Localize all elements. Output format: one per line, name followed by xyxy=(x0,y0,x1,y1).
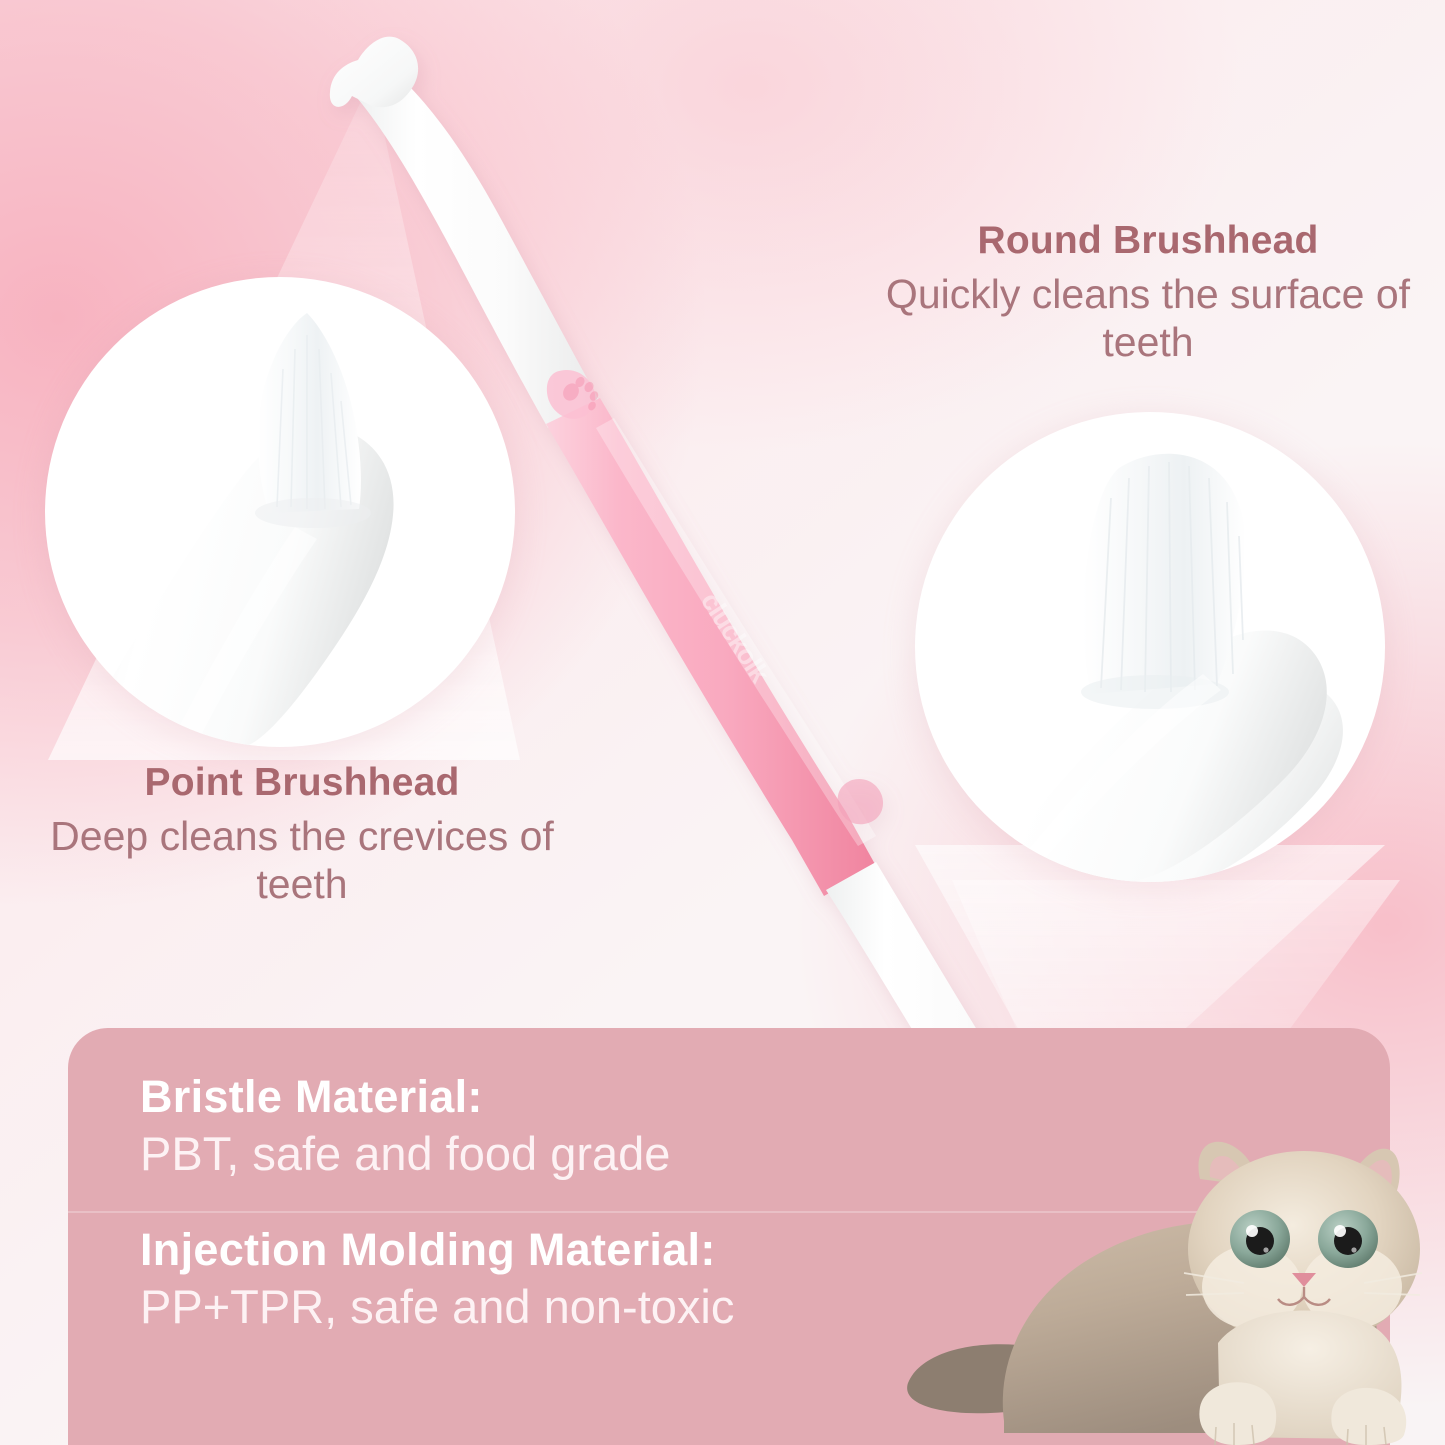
zoom-circle-round-brushhead xyxy=(915,412,1385,882)
cat-eye-right xyxy=(1318,1210,1378,1268)
cat-eye-left xyxy=(1230,1210,1290,1268)
callout-point-body: Deep cleans the crevices of teeth xyxy=(22,812,582,909)
callout-round-title: Round Brushhead xyxy=(848,218,1445,264)
infographic-canvas: cluckolk xyxy=(0,0,1445,1445)
round-brushhead-detail xyxy=(915,412,1385,882)
cat-photo xyxy=(900,1115,1445,1445)
zoom-circle-point-brushhead xyxy=(45,277,515,747)
cat-paw-left xyxy=(1199,1382,1276,1445)
point-brushhead-detail xyxy=(45,277,515,747)
callout-point-title: Point Brushhead xyxy=(22,760,582,806)
callout-round-brushhead: Round Brushhead Quickly cleans the surfa… xyxy=(848,218,1445,367)
callout-point-brushhead: Point Brushhead Deep cleans the crevices… xyxy=(22,760,582,909)
callout-round-body: Quickly cleans the surface of teeth xyxy=(848,270,1445,367)
